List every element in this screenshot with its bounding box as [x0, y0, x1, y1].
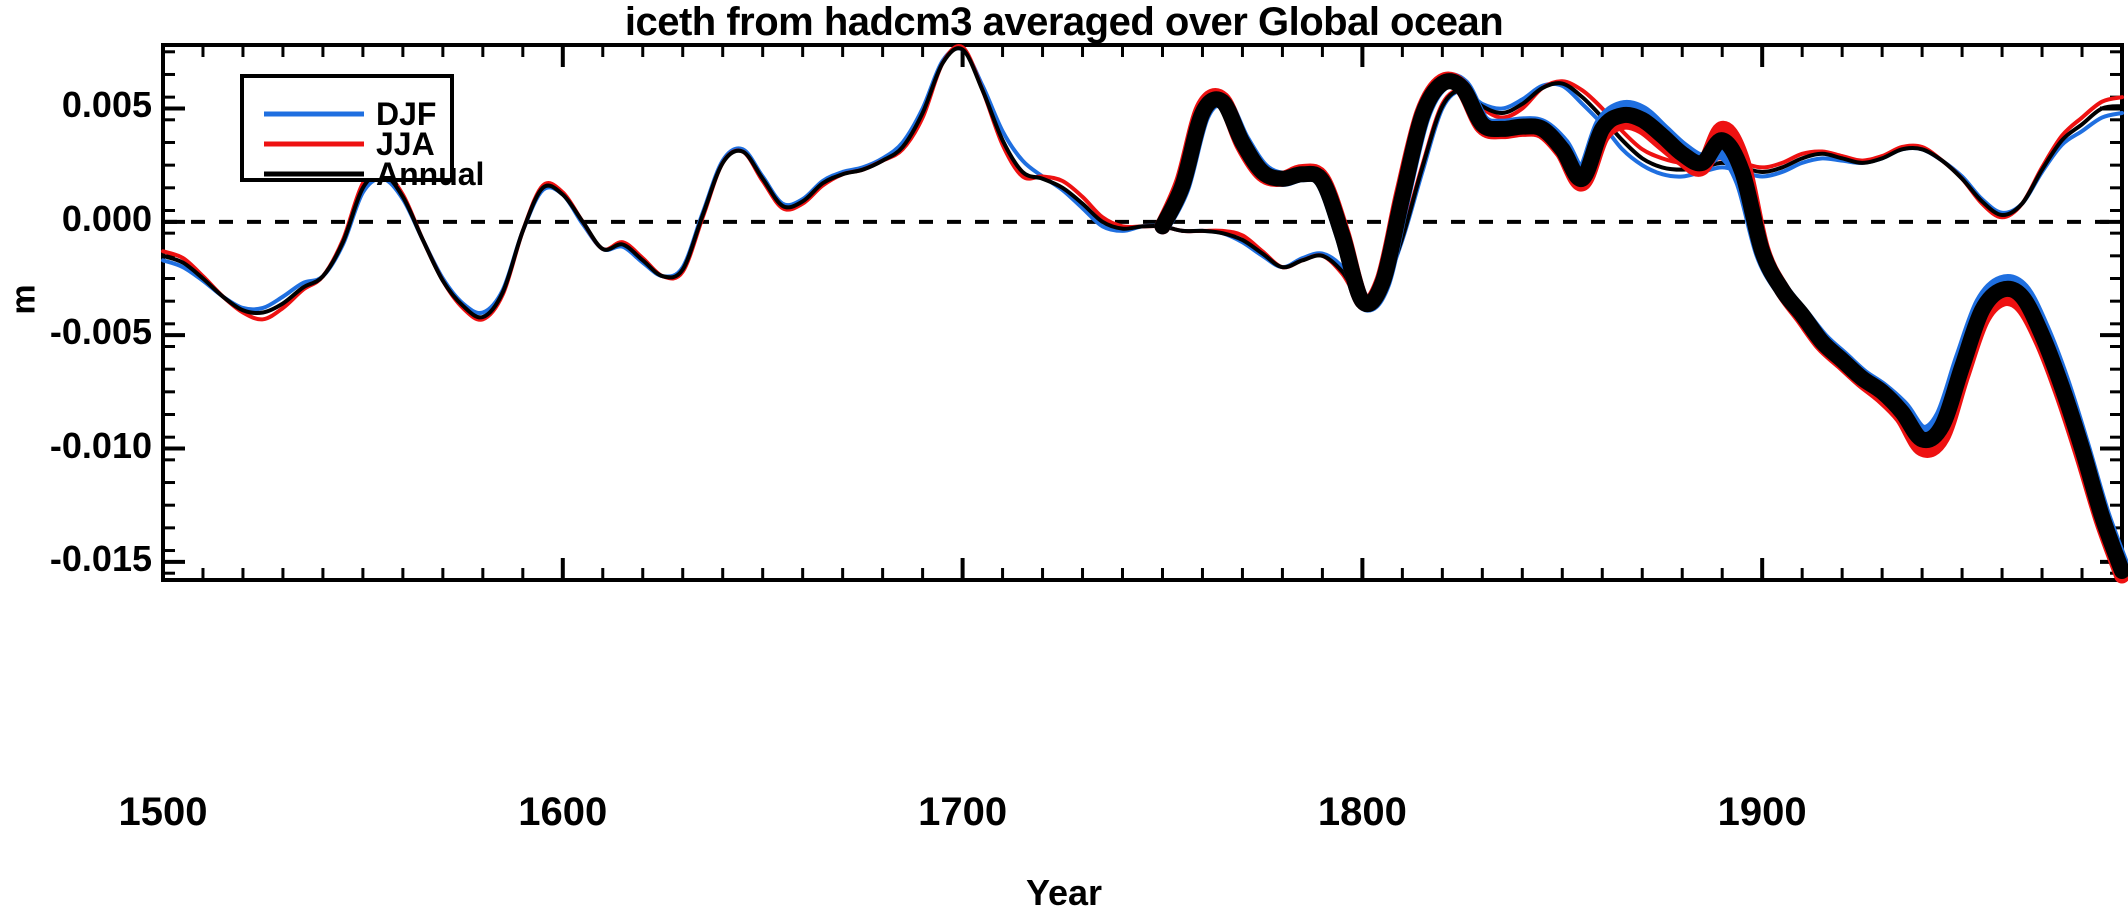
- legend[interactable]: DJFJJAAnnual: [242, 76, 484, 192]
- chart-canvas: DJFJJAAnnual: [0, 0, 2128, 924]
- series-line-thick-annual: [1162, 81, 2122, 571]
- legend-label-annual: Annual: [376, 156, 484, 192]
- figure-container: iceth from hadcm3 averaged over Global o…: [0, 0, 2128, 924]
- series-thick-lines: [1162, 79, 2122, 575]
- axes-frame: [163, 45, 2122, 580]
